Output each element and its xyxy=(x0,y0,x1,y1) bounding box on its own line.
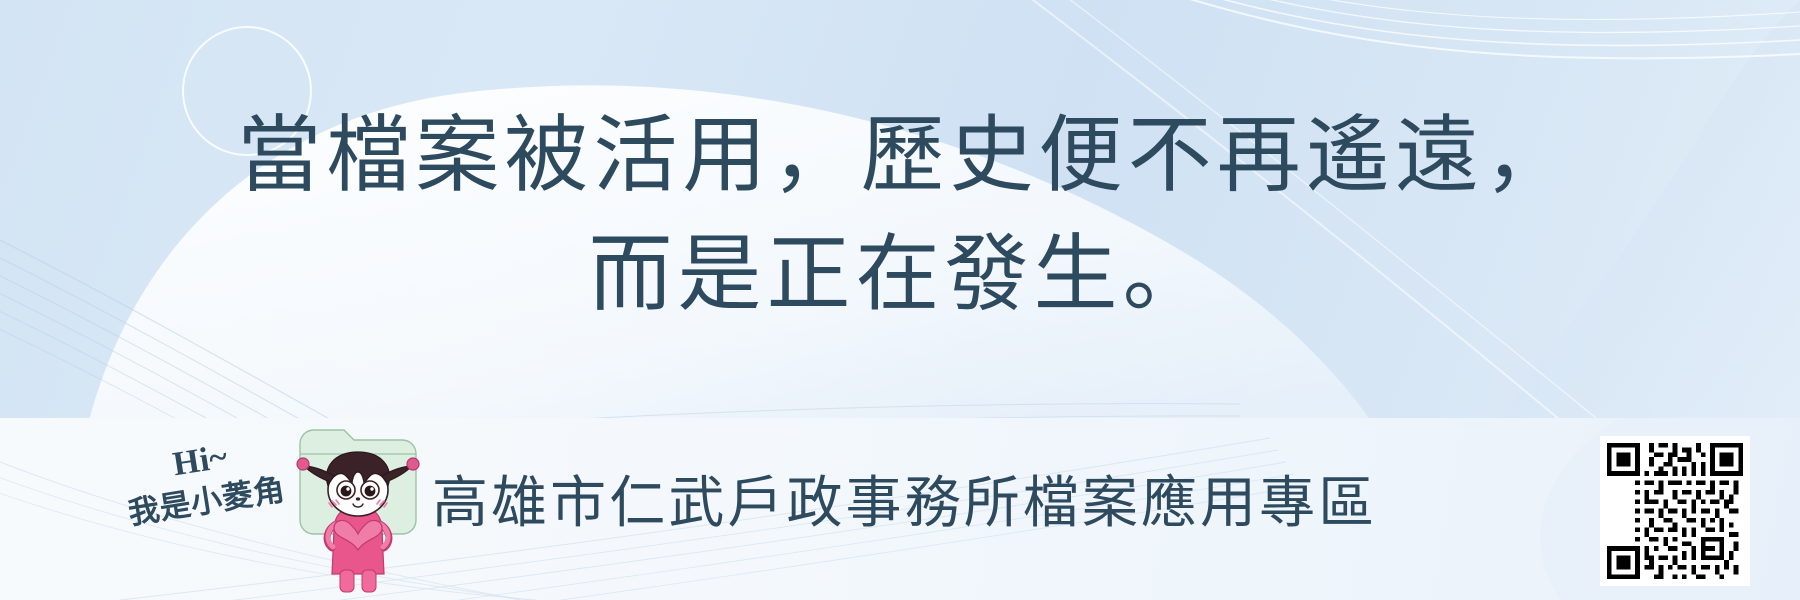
mascot-character-icon xyxy=(292,418,424,598)
headline-line-2: 而是正在發生。 xyxy=(0,215,1800,334)
background-wave-lines-top xyxy=(1136,0,1800,58)
headline: 當檔案被活用，歷史便不再遙遠， 而是正在發生。 xyxy=(0,96,1800,335)
hat-pompom-right xyxy=(407,458,419,470)
headline-line-1: 當檔案被活用，歷史便不再遙遠， xyxy=(0,96,1800,215)
archive-promo-banner: 當檔案被活用，歷史便不再遙遠， 而是正在發生。 Hi~ 我是小菱角 xyxy=(0,0,1800,600)
qr-code-icon[interactable] xyxy=(1600,436,1750,586)
footer-title: 高雄市仁武戶政事務所檔案應用專區 xyxy=(432,458,1377,539)
hat-pompom-left xyxy=(297,458,309,470)
footer-bar: Hi~ 我是小菱角 xyxy=(0,418,1800,600)
